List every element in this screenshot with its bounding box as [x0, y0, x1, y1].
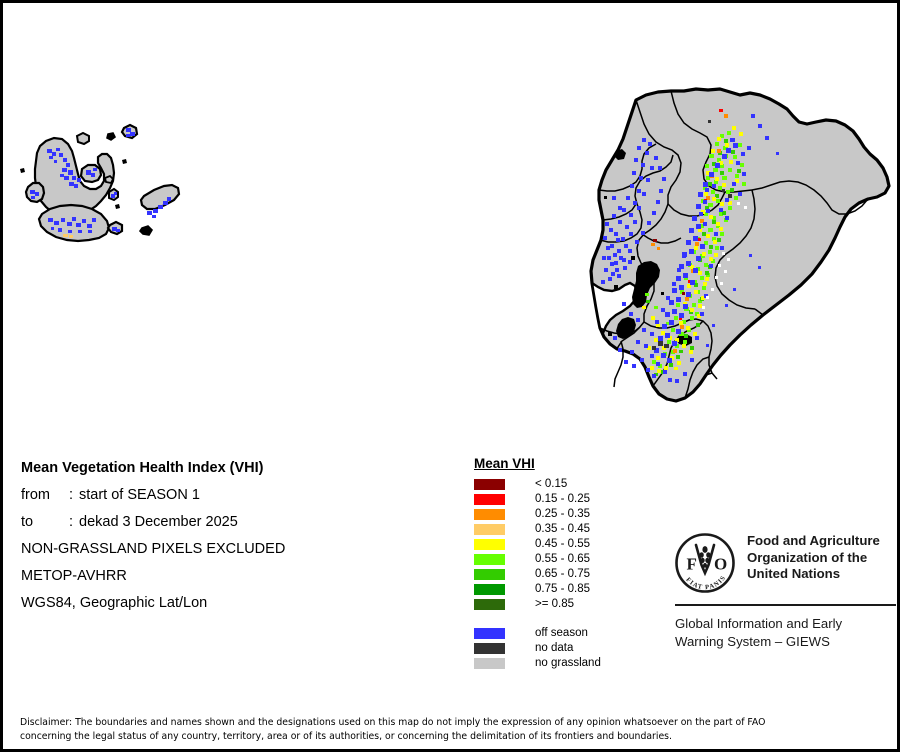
info-heading: Mean Vegetation Health Index (VHI) [21, 460, 451, 476]
legend-class-swatch [474, 599, 505, 610]
legend-extra-swatch [474, 643, 505, 654]
info-from-separator: : [69, 487, 79, 503]
legend-class-label: < 0.15 [535, 479, 567, 490]
legend-class-row: 0.25 - 0.35 [474, 507, 601, 522]
legend-class-swatch [474, 539, 505, 550]
info-to-separator: : [69, 514, 79, 530]
legend-class-label: 0.55 - 0.65 [535, 554, 590, 565]
legend-class-swatch [474, 509, 505, 520]
giews-line-1: Global Information and Early [675, 615, 899, 633]
legend-class-swatch [474, 524, 505, 535]
info-note-sensor: METOP-AVHRR [21, 568, 451, 584]
info-row-to: to : dekad 3 December 2025 [21, 514, 451, 530]
legend-extra-label: no grassland [535, 658, 601, 669]
info-from-label: from [21, 487, 69, 503]
giews-line-2: Warning System – GIEWS [675, 633, 899, 651]
giews-subtitle: Global Information and Early Warning Sys… [675, 615, 899, 651]
legend-class-label: 0.75 - 0.85 [535, 584, 590, 595]
legend-class-swatch [474, 554, 505, 565]
disclaimer: Disclaimer: The boundaries and names sho… [20, 716, 880, 743]
fao-divider [675, 604, 896, 606]
fao-emblem-icon: F O FIAT PANIS [674, 532, 736, 594]
legend-class-swatch [474, 494, 505, 505]
info-row-from: from : start of SEASON 1 [21, 487, 451, 503]
legend-class-swatch [474, 584, 505, 595]
legend-class-label: 0.45 - 0.55 [535, 539, 590, 550]
fao-name-line-2: Organization of the [747, 550, 880, 567]
info-to-label: to [21, 514, 69, 530]
legend-class-label: 0.25 - 0.35 [535, 509, 590, 520]
info-note-projection: WGS84, Geographic Lat/Lon [21, 595, 451, 611]
fao-organization-name: Food and Agriculture Organization of the… [747, 532, 880, 583]
legend-class-row: >= 0.85 [474, 597, 601, 612]
map-legend: Mean VHI < 0.150.15 - 0.250.25 - 0.350.3… [474, 456, 601, 671]
legend-class-row: 0.45 - 0.55 [474, 537, 601, 552]
map-poster: Ecuador [0, 0, 900, 752]
legend-class-row: 0.15 - 0.25 [474, 492, 601, 507]
legend-extra-row: no data [474, 641, 601, 656]
legend-extra-row: off season [474, 626, 601, 641]
disclaimer-line-1: Disclaimer: The boundaries and names sho… [20, 716, 880, 730]
legend-class-label: 0.65 - 0.75 [535, 569, 590, 580]
legend-title: Mean VHI [474, 456, 601, 471]
legend-class-swatch [474, 569, 505, 580]
legend-extra-swatch [474, 628, 505, 639]
legend-class-row: 0.55 - 0.65 [474, 552, 601, 567]
legend-class-row: 0.75 - 0.85 [474, 582, 601, 597]
legend-extra-label: off season [535, 628, 588, 639]
legend-class-swatch [474, 479, 505, 490]
svg-text:O: O [714, 555, 727, 574]
fao-name-line-3: United Nations [747, 566, 880, 583]
legend-class-label: 0.15 - 0.25 [535, 494, 590, 505]
legend-extra-label: no data [535, 643, 573, 654]
legend-class-label: 0.35 - 0.45 [535, 524, 590, 535]
legend-extra-list: off seasonno datano grassland [474, 626, 601, 671]
svg-text:F: F [687, 555, 697, 574]
info-to-value: dekad 3 December 2025 [79, 514, 238, 530]
legend-extra-swatch [474, 658, 505, 669]
fao-branding-block: F O FIAT PANIS [674, 532, 899, 651]
legend-class-row: 0.35 - 0.45 [474, 522, 601, 537]
info-from-value: start of SEASON 1 [79, 487, 200, 503]
legend-extra-row: no grassland [474, 656, 601, 671]
legend-class-label: >= 0.85 [535, 599, 574, 610]
fao-name-line-1: Food and Agriculture [747, 533, 880, 550]
disclaimer-line-2: concerning the legal status of any count… [20, 730, 880, 744]
map-info-block: Mean Vegetation Health Index (VHI) from … [21, 460, 451, 622]
legend-class-row: < 0.15 [474, 477, 601, 492]
legend-class-row: 0.65 - 0.75 [474, 567, 601, 582]
info-note-pixels: NON-GRASSLAND PIXELS EXCLUDED [21, 541, 451, 557]
legend-class-list: < 0.150.15 - 0.250.25 - 0.350.35 - 0.450… [474, 477, 601, 612]
